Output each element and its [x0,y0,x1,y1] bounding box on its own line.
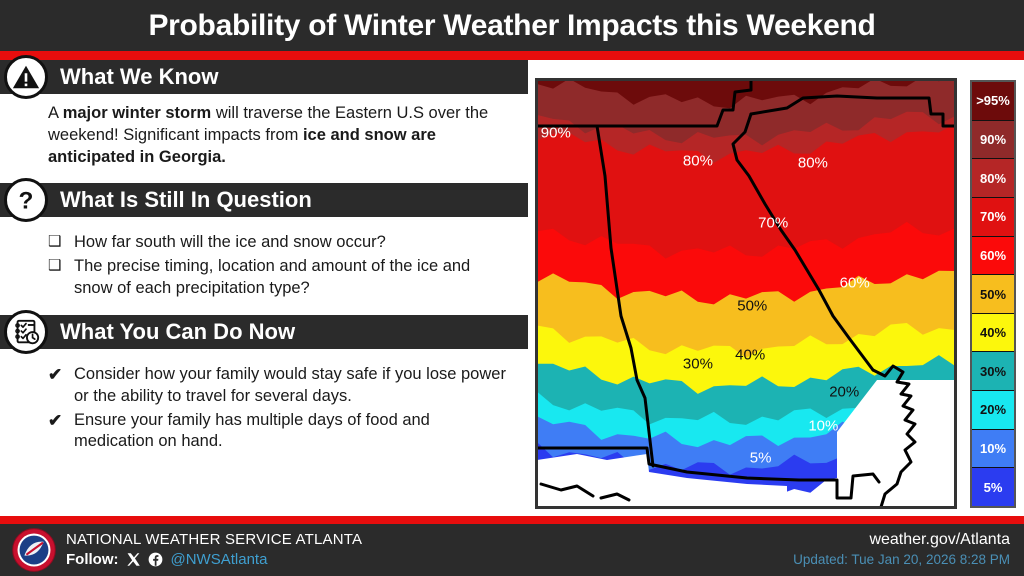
colorbar-band-70: 70% [972,198,1014,237]
agency-name: NATIONAL WEATHER SERVICE ATLANTA [66,531,362,550]
list-item-label: Consider how your family would stay safe… [74,364,512,407]
svg-text:?: ? [19,187,34,214]
colorbar-band-40: 40% [972,314,1014,353]
x-twitter-icon[interactable] [126,552,141,567]
facebook-icon[interactable] [148,552,163,567]
section-what-you-can-do: What You Can Do Now ✔ Consider how your … [0,315,528,453]
section-header: What You Can Do Now [0,315,528,349]
list-item: ✔ Consider how your family would stay sa… [48,364,512,407]
colorbar-band-20: 20% [972,391,1014,430]
list-item-label: The precise timing, location and amount … [74,256,512,299]
page-title: Probability of Winter Weather Impacts th… [148,11,875,41]
check-marker-icon: ✔ [48,364,74,407]
para-bold-storm: major winter storm [63,104,212,122]
information-panel: What We Know A major winter storm will t… [0,60,528,516]
section-body: A major winter storm will traverse the E… [0,94,528,169]
footer-bar: NATIONAL WEATHER SERVICE ATLANTA Follow:… [0,524,1024,576]
list-item: ✔ Ensure your family has multiple days o… [48,410,512,453]
header-bar: Probability of Winter Weather Impacts th… [0,0,1024,51]
checkbox-marker-icon: ❑ [48,232,74,253]
list-item-label: How far south will the ice and snow occu… [74,232,512,253]
colorbar-band-90: 90% [972,121,1014,160]
colorbar-band-30: 30% [972,352,1014,391]
question-mark-icon: ? [4,178,48,222]
section-body: ❑ How far south will the ice and snow oc… [0,217,528,299]
action-list: ✔ Consider how your family would stay sa… [48,364,512,453]
section-body: ✔ Consider how your family would stay sa… [0,349,528,453]
checklist-clock-icon [4,310,48,354]
section-what-is-in-question: ? What Is Still In Question ❑ How far so… [0,183,528,299]
map-contour-canvas [537,80,955,507]
colorbar-band-80: 80% [972,159,1014,198]
list-item-label: Ensure your family has multiple days of … [74,410,512,453]
checkbox-marker-icon: ❑ [48,256,74,299]
footer-branding: NATIONAL WEATHER SERVICE ATLANTA Follow:… [12,528,362,572]
colorbar-band-50: 50% [972,275,1014,314]
section-what-we-know: What We Know A major winter storm will t… [0,60,528,169]
colorbar-band-5: 5% [972,468,1014,506]
footer-accent-rule [0,516,1024,524]
colorbar-band-95: >95% [972,82,1014,121]
probability-colorbar: >95%90%80%70%60%50%40%30%20%10%5% [970,80,1016,508]
updated-timestamp: Updated: Tue Jan 20, 2026 8:28 PM [793,551,1010,569]
colorbar-band-60: 60% [972,237,1014,276]
follow-row: Follow: @NWSAtlanta [66,551,362,569]
section-header: ? What Is Still In Question [0,183,528,217]
probability-map[interactable]: 90%80%80%70%60%50%40%30%20%10%5% [535,78,957,509]
follow-label: Follow: [66,551,119,569]
website-url[interactable]: weather.gov/Atlanta [793,530,1010,551]
header-accent-rule [0,51,1024,60]
para-prefix: A [48,104,63,122]
what-we-know-paragraph: A major winter storm will traverse the E… [48,103,512,169]
content-area: What We Know A major winter storm will t… [0,60,1024,516]
check-marker-icon: ✔ [48,410,74,453]
question-list: ❑ How far south will the ice and snow oc… [48,232,512,299]
section-header: What We Know [0,60,528,94]
list-item: ❑ How far south will the ice and snow oc… [48,232,512,253]
colorbar-band-10: 10% [972,430,1014,469]
social-handle[interactable]: @NWSAtlanta [171,551,268,569]
list-item: ❑ The precise timing, location and amoun… [48,256,512,299]
nws-seal-logo [12,528,56,572]
warning-triangle-icon [4,55,48,99]
footer-links: weather.gov/Atlanta Updated: Tue Jan 20,… [793,530,1010,568]
